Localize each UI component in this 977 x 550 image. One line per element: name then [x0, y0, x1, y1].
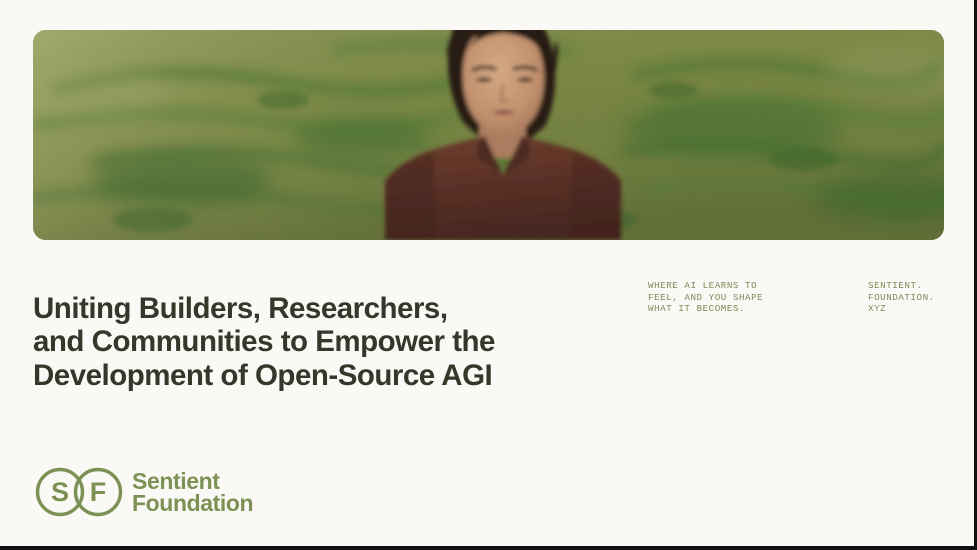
sentient-foundation-mark-icon: S F [33, 466, 125, 518]
logo[interactable]: S F Sentient Foundation [33, 466, 253, 518]
hero-illustration [33, 30, 944, 240]
logo-letter-s: S [51, 477, 69, 507]
logo-wordmark: Sentient Foundation [132, 470, 253, 515]
tagline-text: WHERE AI LEARNS TO FEEL, AND YOU SHAPE W… [648, 280, 763, 315]
hero-image [33, 30, 944, 240]
domain-text: SENTIENT. FOUNDATION. XYZ [868, 280, 935, 315]
slide-canvas: Uniting Builders, Researchers, and Commu… [0, 0, 977, 550]
page-title: Uniting Builders, Researchers, and Commu… [33, 292, 593, 393]
logo-letter-f: F [90, 477, 107, 507]
